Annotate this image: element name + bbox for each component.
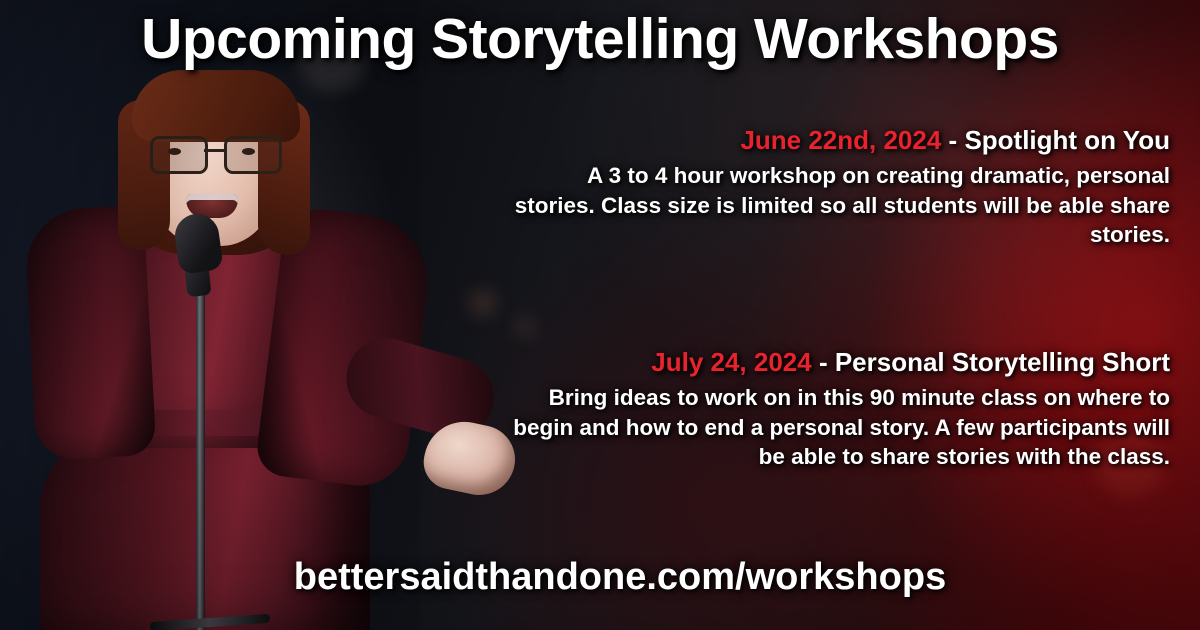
workshop-separator: - (941, 125, 964, 155)
workshop-date: June 22nd, 2024 (740, 125, 941, 155)
workshop-headline: July 24, 2024 - Personal Storytelling Sh… (510, 348, 1170, 378)
workshop-separator: - (812, 347, 835, 377)
workshop-name: Personal Storytelling Short (835, 347, 1170, 377)
workshop-description: A 3 to 4 hour workshop on creating drama… (510, 161, 1170, 250)
workshop-description: Bring ideas to work on in this 90 minute… (510, 383, 1170, 472)
workshop-name: Spotlight on You (964, 125, 1170, 155)
workshop-headline: June 22nd, 2024 - Spotlight on You (510, 126, 1170, 156)
vignette-overlay (0, 0, 1200, 630)
workshop-entry-2: July 24, 2024 - Personal Storytelling Sh… (510, 348, 1170, 472)
workshop-poster: Upcoming Storytelling Workshops June 22n… (0, 0, 1200, 630)
workshop-entry-1: June 22nd, 2024 - Spotlight on You A 3 t… (510, 126, 1170, 250)
workshop-date: July 24, 2024 (651, 347, 811, 377)
page-title: Upcoming Storytelling Workshops (0, 6, 1200, 72)
website-url[interactable]: bettersaidthandone.com/workshops (150, 556, 1090, 599)
